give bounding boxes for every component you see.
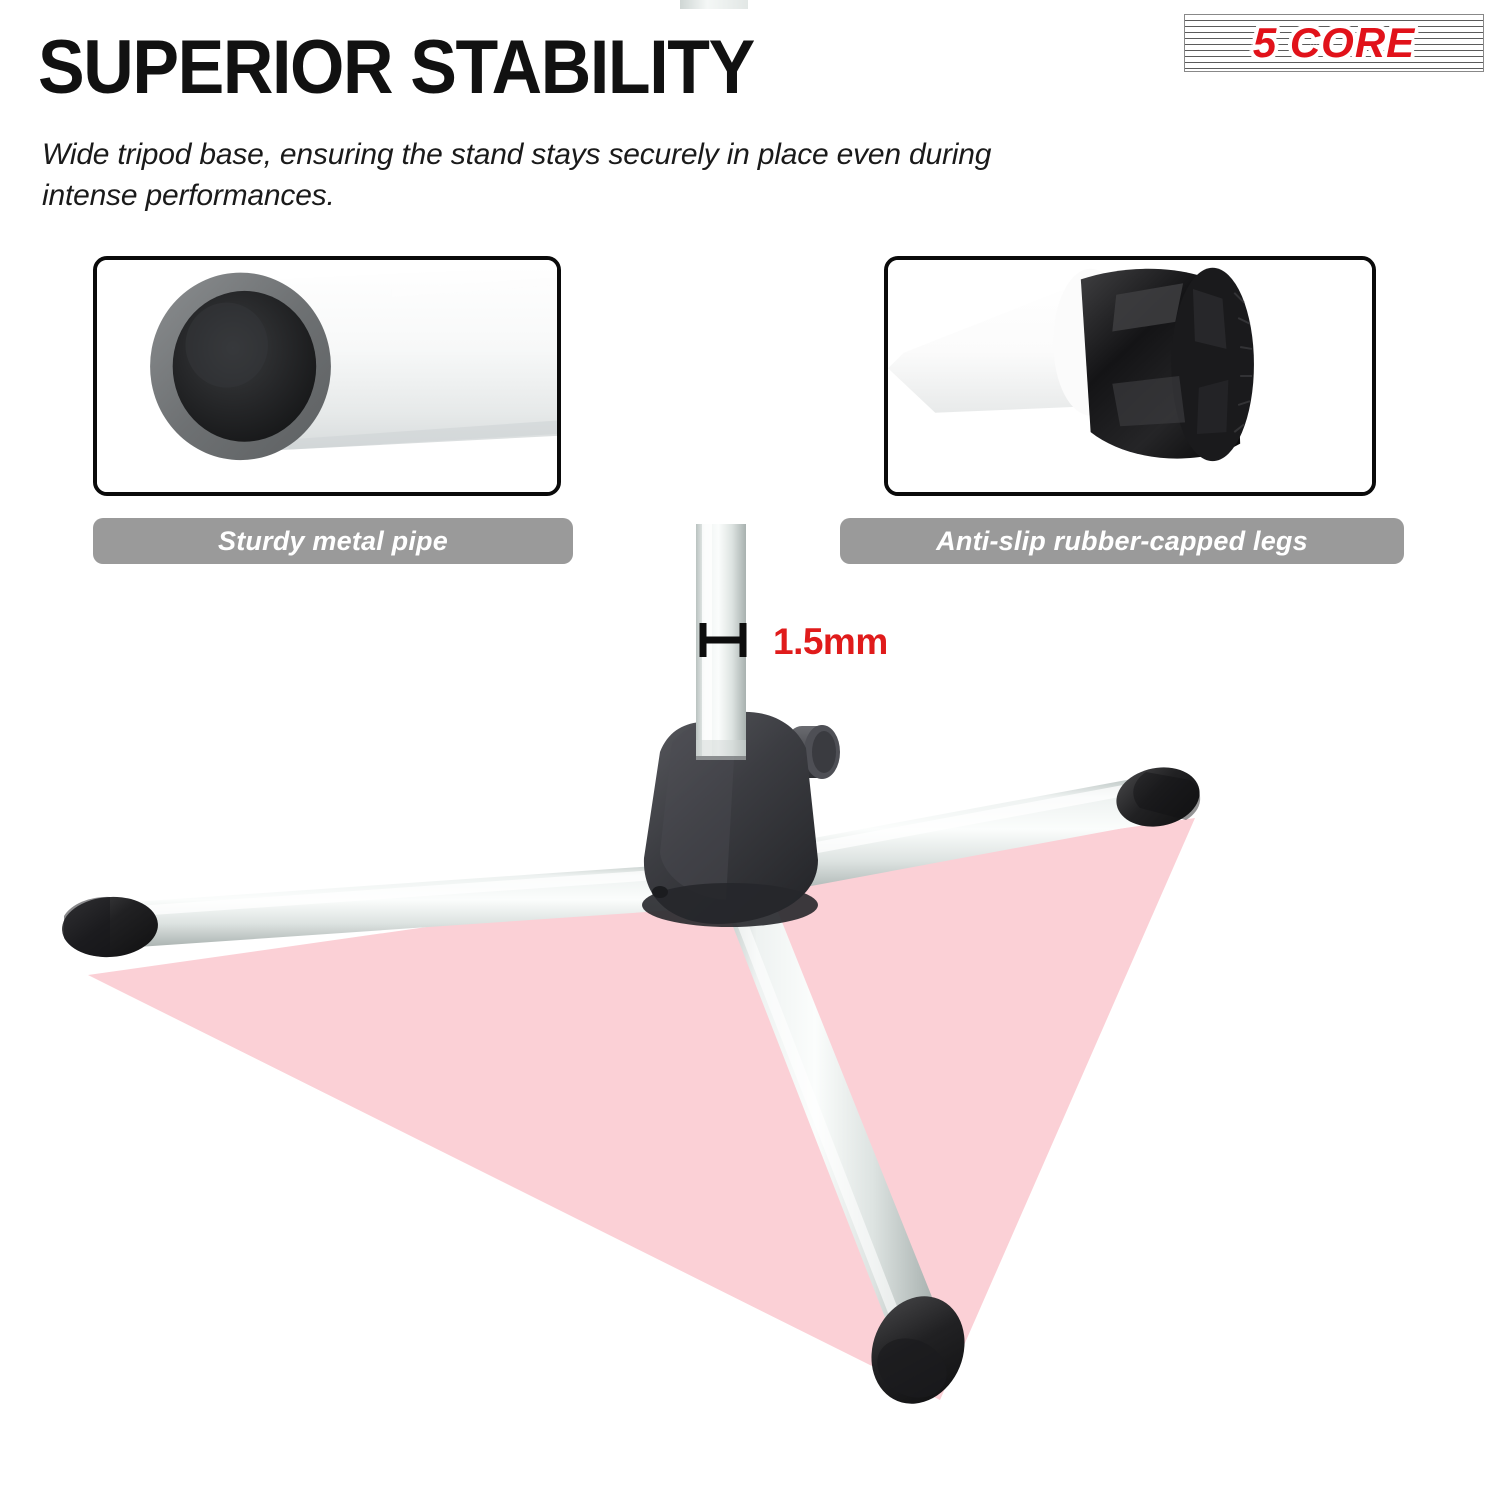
dimension-label: 1.5mm (773, 621, 888, 663)
product-illustration (0, 0, 1500, 1500)
infographic-page: SUPERIOR STABILITY Wide tripod base, ens… (0, 0, 1500, 1500)
